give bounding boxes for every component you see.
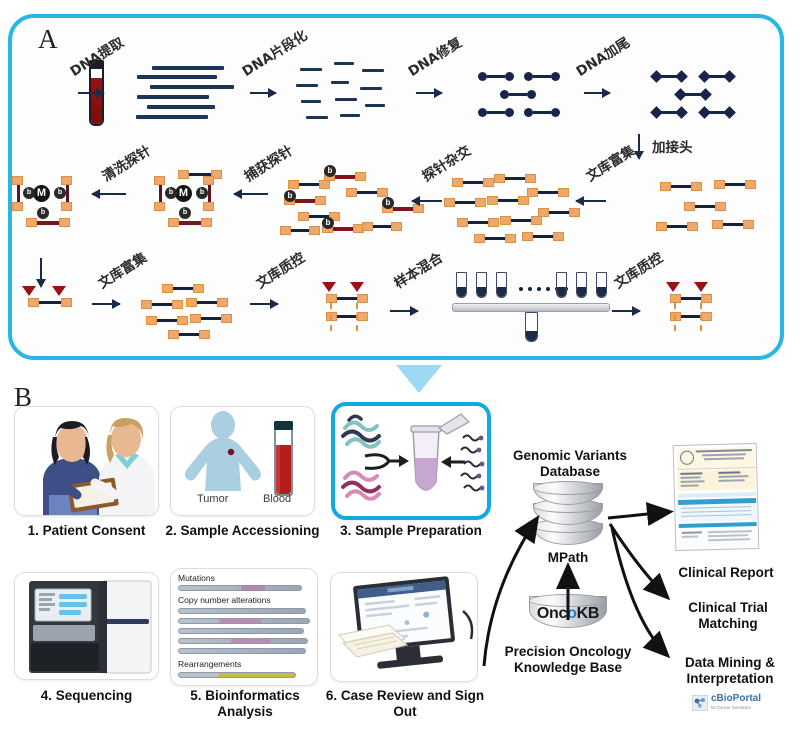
tumor-blood-illustration <box>171 407 314 515</box>
arrow-library-enrichment-row3 <box>92 303 120 305</box>
arrow-library-qc-1 <box>250 303 278 305</box>
biotin-label: b <box>23 187 35 199</box>
biotin-label: b <box>196 187 208 199</box>
label-copy-number-alterations: Copy number alterations <box>178 595 271 605</box>
sequencer-illustration <box>15 573 158 679</box>
caption-sample-accessioning: 2. Sample Accessioning <box>160 523 325 539</box>
caption-patient-consent: 1. Patient Consent <box>14 523 159 539</box>
panel-a-letter: A <box>38 24 59 55</box>
biotin-label: b <box>54 187 66 199</box>
arrow-dna-fragmentation <box>250 92 276 94</box>
arrow-wash-probe <box>92 193 126 195</box>
case-review-monitor-illustration <box>331 573 477 681</box>
biotin-label: b <box>284 190 296 202</box>
label-blood: Blood <box>263 493 291 505</box>
caption-sample-preparation: 3. Sample Preparation <box>326 523 496 539</box>
biotin-label: b <box>324 165 336 177</box>
arrow-dna-extraction <box>78 92 104 94</box>
label-tumor: Tumor <box>197 493 228 505</box>
biotin-label: b <box>165 187 177 199</box>
card-sample-preparation[interactable] <box>331 402 491 520</box>
arrow-dna-repair <box>416 92 442 94</box>
arrow-library-enrichment-row2 <box>576 200 606 202</box>
card-bioinformatics[interactable]: Mutations Copy number alterations Rearra… <box>170 568 318 686</box>
panel-connector-arrow <box>396 365 442 393</box>
blood-fill <box>91 78 102 124</box>
arrow-dna-tailing <box>584 92 610 94</box>
card-patient-consent[interactable] <box>14 406 159 516</box>
step-label-add-adapter: 加接头 <box>652 136 693 156</box>
card-sample-accessioning[interactable]: Tumor Blood <box>170 406 315 516</box>
workflow-connector-arrows <box>480 420 800 736</box>
label-mutations: Mutations <box>178 573 215 583</box>
caption-bioinformatics: 5. Bioinformatics Analysis <box>165 688 325 720</box>
arrow-probe-hybridization <box>412 200 442 202</box>
patient-consent-illustration <box>15 407 158 515</box>
arrow-add-adapter <box>638 134 640 152</box>
arrow-row3-down <box>40 258 42 280</box>
sample-preparation-illustration <box>335 406 487 516</box>
arrow-library-qc-2 <box>612 310 640 312</box>
caption-sequencing: 4. Sequencing <box>14 688 159 704</box>
magnetic-bead-label: M <box>33 185 50 202</box>
card-case-review[interactable] <box>330 572 478 682</box>
caption-case-review: 6. Case Review and Sign Out <box>325 688 485 720</box>
card-sequencing[interactable] <box>14 572 159 680</box>
arrow-sample-pooling <box>390 310 418 312</box>
biotin-label: b <box>322 217 334 229</box>
label-rearrangements: Rearrangements <box>178 659 241 669</box>
magnetic-bead-label: M <box>175 185 192 202</box>
arrow-capture-probe <box>234 193 268 195</box>
biotin-label: b <box>382 197 394 209</box>
